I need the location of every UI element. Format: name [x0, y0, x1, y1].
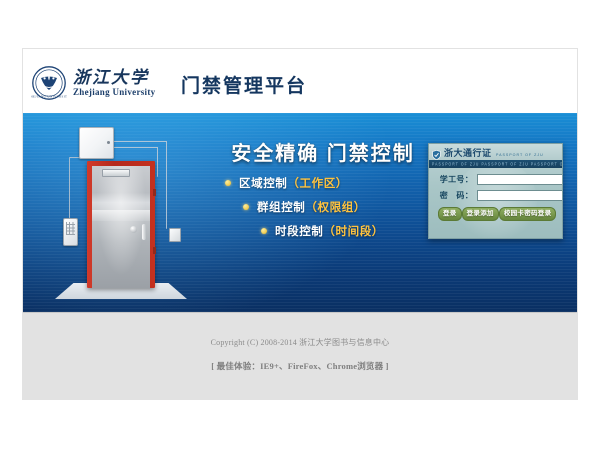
door-leaf — [92, 166, 150, 288]
site-header: ZHEJIANG UNIVERSITY 浙江大学 Zhejiang Univer… — [23, 49, 577, 113]
feature-item-area-control: 区域控制 （工作区） — [213, 175, 443, 191]
username-label: 学工号： — [435, 174, 473, 185]
field-row-password: 密 码： — [435, 190, 556, 201]
door-highlight-band — [92, 210, 150, 221]
feature-item-time-control: 时段控制 （时间段） — [213, 223, 443, 239]
door-frame — [87, 161, 155, 288]
field-row-username: 学工号： — [435, 174, 556, 185]
login-panel-header: 浙大通行证 PASSPORT OF ZJU — [429, 144, 562, 160]
page-container: ZHEJIANG UNIVERSITY 浙江大学 Zhejiang Univer… — [22, 48, 578, 400]
door-hinge — [153, 247, 156, 254]
wire-segment — [166, 141, 168, 229]
panel-title-cn: 浙大通行证 — [444, 148, 492, 158]
bullet-dot-icon — [243, 204, 249, 210]
passport-strip: PASSPORT OF ZJU PASSPORT OF ZJU PASSPORT… — [429, 160, 562, 168]
panel-title-group: 浙大通行证 PASSPORT OF ZJU — [444, 143, 544, 161]
wire-segment — [112, 141, 167, 143]
username-input[interactable] — [477, 174, 563, 185]
wire-segment — [157, 147, 159, 177]
feature-label: 时段控制 — [275, 223, 323, 239]
feature-item-group-control: 群组控制 （权限组） — [213, 199, 443, 215]
keypad-grid — [66, 222, 75, 235]
svg-text:ZHEJIANG UNIVERSITY: ZHEJIANG UNIVERSITY — [31, 95, 67, 99]
door-knob-icon — [130, 226, 137, 233]
passport-strip-text: PASSPORT OF ZJU PASSPORT OF ZJU PASSPORT… — [429, 161, 562, 167]
feature-tag: （时间段） — [323, 223, 384, 239]
footer-browser-support: [ 最佳体验：IE9+、FireFox、Chrome浏览器 ] — [23, 360, 577, 372]
footer-copyright: Copyright (C) 2008-2014 浙江大学图书与信息中心 — [23, 337, 577, 348]
feature-tag: （工作区） — [287, 175, 348, 191]
login-form: 学工号： 密 码： 登录 登录添加 校园卡密码登录 — [429, 168, 562, 221]
wire-segment — [112, 147, 158, 149]
door-handle-icon — [142, 224, 146, 240]
wordmark-cn: 浙江大学 — [73, 69, 155, 87]
card-reader-icon — [169, 228, 181, 242]
site-footer: Copyright (C) 2008-2014 浙江大学图书与信息中心 [ 最佳… — [23, 312, 577, 399]
login-button-row: 登录 登录添加 校园卡密码登录 — [435, 206, 556, 221]
bullet-dot-icon — [261, 228, 267, 234]
keypad-reader-icon — [63, 218, 78, 246]
login-add-button[interactable]: 登录添加 — [462, 207, 499, 221]
brand-block[interactable]: ZHEJIANG UNIVERSITY 浙江大学 Zhejiang Univer… — [31, 65, 155, 101]
feature-label: 群组控制 — [257, 199, 305, 215]
panel-title-en: PASSPORT OF ZJU — [496, 153, 544, 157]
page-title: 门禁管理平台 — [181, 71, 307, 98]
feature-label: 区域控制 — [239, 175, 287, 191]
feature-list: 区域控制 （工作区） 群组控制 （权限组） 时段控制 （时间段） — [213, 175, 443, 247]
bullet-dot-icon — [225, 180, 231, 186]
security-door-icon — [43, 123, 193, 308]
hero-banner: 安全精确 门禁控制 区域控制 （工作区） 群组控制 （权限组） 时段控制 （时间… — [23, 113, 577, 312]
campus-card-login-button[interactable]: 校园卡密码登录 — [499, 207, 557, 221]
door-closer-icon — [102, 169, 130, 177]
access-controller-box-icon — [79, 127, 114, 159]
shield-icon — [432, 147, 441, 157]
app-root: ZHEJIANG UNIVERSITY 浙江大学 Zhejiang Univer… — [0, 0, 600, 450]
zju-seal-icon: ZHEJIANG UNIVERSITY — [31, 65, 67, 101]
door-hinge — [153, 189, 156, 196]
wordmark-en: Zhejiang University — [73, 87, 155, 98]
login-button[interactable]: 登录 — [438, 207, 462, 221]
login-panel: 浙大通行证 PASSPORT OF ZJU PASSPORT OF ZJU PA… — [428, 143, 563, 239]
feature-tag: （权限组） — [305, 199, 366, 215]
password-label: 密 码： — [435, 190, 473, 201]
password-input[interactable] — [477, 190, 563, 201]
wordmark: 浙江大学 Zhejiang University — [73, 69, 155, 98]
banner-slogan: 安全精确 门禁控制 — [213, 137, 433, 166]
